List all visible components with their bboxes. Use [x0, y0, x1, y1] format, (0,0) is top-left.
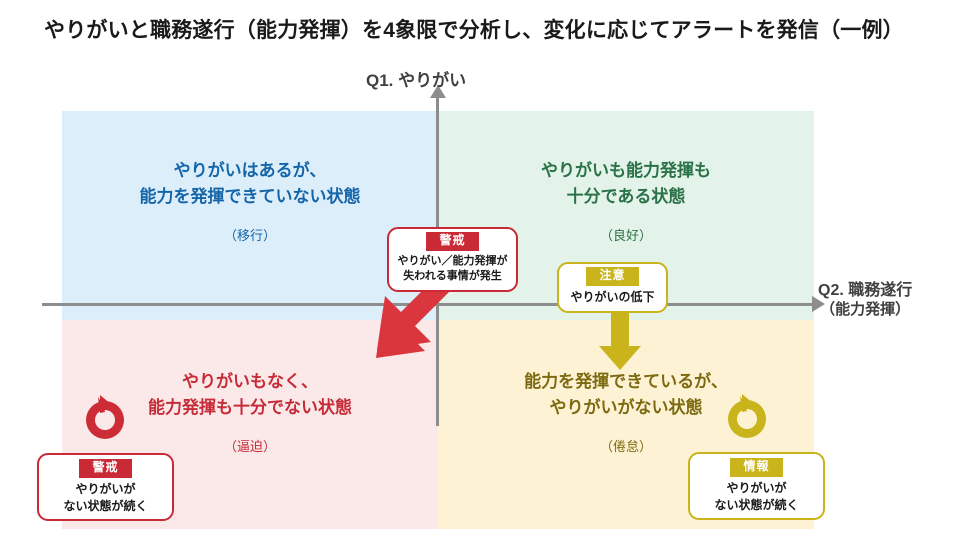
- quadrant-top-left-line2: 能力を発揮できていない状態: [140, 187, 361, 206]
- quadrant-bottom-right-line2: やりがいがない状態: [550, 398, 703, 417]
- callout-bottom-right-info-badge: 情報: [730, 458, 782, 477]
- arrow-down-left-icon: [332, 278, 462, 378]
- quadrant-top-right-text: やりがいも能力発揮も 十分である状態: [438, 158, 814, 209]
- callout-caution-badge: 注意: [586, 267, 638, 286]
- callout-caution-body: やりがいの低下: [559, 286, 666, 311]
- callout-bottom-left-warning-body: やりがいが ない状態が続く: [39, 478, 172, 520]
- x-axis-label: Q2. 職務遂行 （能力発揮）: [818, 281, 912, 320]
- callout-bottom-left-warning[interactable]: 警戒 やりがいが ない状態が続く: [37, 453, 174, 521]
- callout-bottom-left-warning-badge: 警戒: [79, 459, 131, 478]
- loop-arrow-icon: [718, 390, 776, 448]
- quadrant-top-right-line1: やりがいも能力発揮も: [541, 161, 711, 180]
- page-title: やりがいと職務遂行（能力発揮）を4象限で分析し、変化に応じてアラートを発信（一例…: [44, 14, 904, 44]
- quadrant-top-right-line2: 十分である状態: [567, 187, 686, 206]
- x-axis-label-sub: （能力発揮）: [818, 301, 912, 320]
- y-axis-label: Q1. やりがい: [366, 66, 466, 91]
- callout-bottom-right-info-body: やりがいが ない状態が続く: [690, 477, 823, 519]
- quadrant-bottom-left-line2: 能力発揮も十分でない状態: [148, 398, 352, 417]
- loop-arrow-icon: [76, 391, 134, 449]
- callout-caution[interactable]: 注意 やりがいの低下: [557, 262, 668, 313]
- quadrant-bottom-left-line1: やりがいもなく、: [182, 372, 318, 391]
- callout-center-warning-badge: 警戒: [426, 232, 478, 251]
- quadrant-top-left-text: やりがいはあるが、 能力を発揮できていない状態: [62, 158, 438, 209]
- quadrant-bottom-right-line1: 能力を発揮できているが、: [524, 372, 728, 391]
- callout-center-warning[interactable]: 警戒 やりがい／能力発揮が 失われる事情が発生: [387, 227, 518, 292]
- callout-bottom-right-info[interactable]: 情報 やりがいが ない状態が続く: [688, 452, 825, 520]
- quadrant-top-left-line1: やりがいはあるが、: [174, 161, 327, 180]
- quadrant-top-left-sublabel: （移行）: [62, 225, 438, 244]
- callout-center-warning-body: やりがい／能力発揮が 失われる事情が発生: [389, 251, 516, 290]
- x-axis-label-main: Q2. 職務遂行: [818, 282, 912, 299]
